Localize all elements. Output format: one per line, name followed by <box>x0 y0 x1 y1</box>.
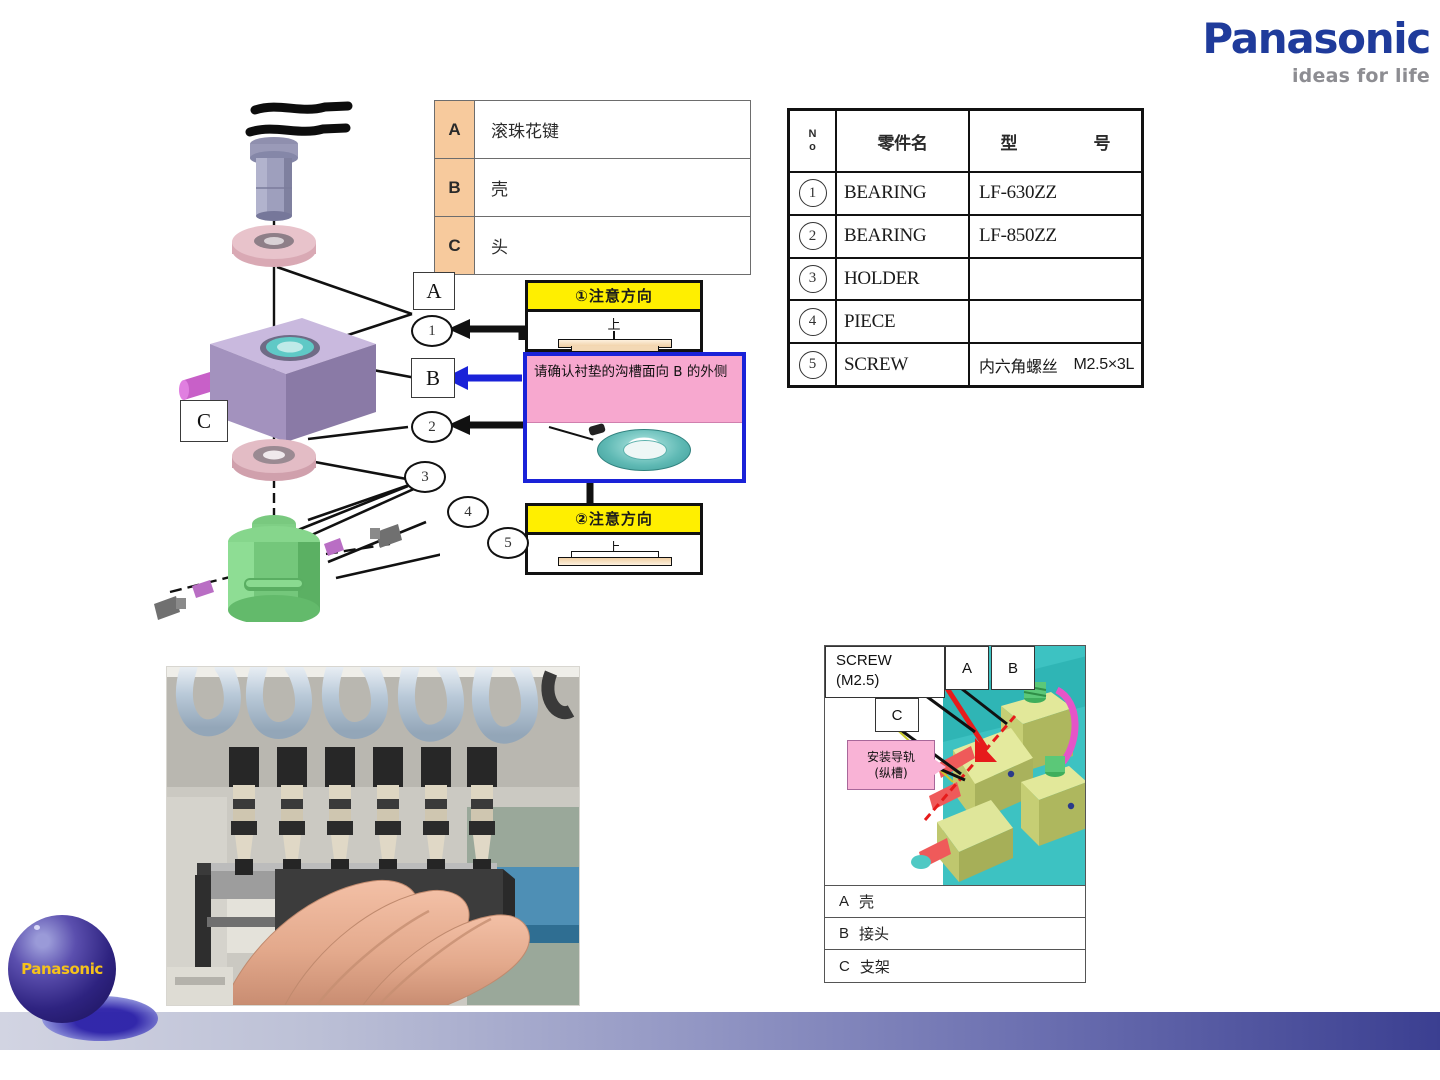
machine-photo <box>167 667 579 1005</box>
legend-row: B 壳 <box>435 159 750 217</box>
label-box-c: C <box>180 400 228 442</box>
label-box-a: A <box>413 272 455 310</box>
balloon-2: 2 <box>411 411 453 443</box>
header-cell-model: 型 号 <box>970 111 1141 171</box>
table-row: 5 SCREW 内六角螺丝 M2.5×3L <box>790 344 1141 385</box>
legend-value: 头 <box>475 217 750 274</box>
screw-callout-line2: (M2.5) <box>836 671 944 691</box>
panasonic-logo: Panasonic ideas for life <box>1165 18 1430 87</box>
row-no-cell: 5 <box>790 344 837 385</box>
table-header-row: N o 零件名 型 号 <box>790 111 1141 173</box>
legend-row: A 滚珠花键 <box>435 101 750 159</box>
row-part-name: BEARING <box>837 216 970 257</box>
panel-legend-row: B 接头 <box>825 918 1085 950</box>
header-no-line2: o <box>809 141 817 154</box>
rail-callout-line2: (纵槽) <box>874 765 907 781</box>
balloon-4: 4 <box>447 496 489 528</box>
circled-number: 3 <box>799 265 827 293</box>
warning-figure <box>527 423 742 479</box>
table-row: 4 PIECE <box>790 301 1141 344</box>
center-axis <box>613 331 615 339</box>
exploded-assembly-illustration <box>140 92 440 622</box>
warning-text: 请确认衬垫的沟槽面向 B 的外侧 <box>527 356 742 423</box>
tag-box-b: B <box>991 646 1035 690</box>
row-model: LF-630ZZ <box>970 173 1141 214</box>
circled-number: 1 <box>799 179 827 207</box>
legend-key: B <box>435 159 475 216</box>
panel-legend-value: 壳 <box>859 891 874 912</box>
caution-title-2: ②注意方向 <box>528 506 700 535</box>
circled-number: 2 <box>799 222 827 250</box>
bearing-body <box>571 551 659 557</box>
balloon-5: 5 <box>487 527 529 559</box>
legend-row: C 头 <box>435 217 750 274</box>
brand-wordmark: Panasonic <box>1165 18 1430 60</box>
cad-vector-art <box>140 92 440 622</box>
legend-value: 壳 <box>475 159 750 216</box>
row-model: LF-850ZZ <box>970 216 1141 257</box>
panel-legend-key: A <box>839 893 849 910</box>
warning-callout: 请确认衬垫的沟槽面向 B 的外侧 <box>523 352 746 483</box>
bearing-flange <box>558 557 672 566</box>
warning-leader-line <box>549 426 594 441</box>
row-part-name: HOLDER <box>837 259 970 300</box>
sphere-logo-text: Panasonic <box>21 960 103 978</box>
table-row: 1 BEARING LF-630ZZ <box>790 173 1141 216</box>
mounting-detail-panel: SCREW (M2.5) A B C 安装导轨 (纵槽) A 壳 B 接头 C … <box>824 645 1086 983</box>
panel-legend-key: C <box>839 958 850 975</box>
legend-value: 滚珠花键 <box>475 101 750 158</box>
panel-legend-table: A 壳 B 接头 C 支架 <box>825 885 1085 982</box>
legend-key: A <box>435 101 475 158</box>
rail-callout-line1: 安装导轨 <box>867 749 915 765</box>
panel-legend-row: C 支架 <box>825 950 1085 982</box>
header-no-line1: N <box>809 128 817 141</box>
brand-tagline: ideas for life <box>1165 65 1430 87</box>
sphere-highlight <box>34 925 40 930</box>
row-model-chinese: 内六角螺丝 <box>979 353 1058 377</box>
header-cell-no: N o <box>790 111 837 171</box>
panasonic-sphere-logo: Panasonic <box>8 915 116 1023</box>
caution-box-1: ①注意方向 上 <box>525 280 703 352</box>
tag-box-a: A <box>945 646 989 690</box>
header-cell-name: 零件名 <box>837 111 970 171</box>
row-no-cell: 3 <box>790 259 837 300</box>
row-model-size: M2.5×3L <box>1074 356 1135 374</box>
row-part-name: PIECE <box>837 301 970 342</box>
row-no-cell: 2 <box>790 216 837 257</box>
screw-callout: SCREW (M2.5) <box>825 646 945 698</box>
rail-callout: 安装导轨 (纵槽) <box>847 740 935 790</box>
panel-legend-key: B <box>839 925 849 942</box>
row-part-name: SCREW <box>837 344 970 385</box>
panel-legend-row: A 壳 <box>825 886 1085 918</box>
legend-key: C <box>435 217 475 274</box>
parts-list-table: N o 零件名 型 号 1 BEARING LF-630ZZ 2 BEARING… <box>787 108 1144 388</box>
circled-number: 5 <box>799 351 827 379</box>
table-row: 3 HOLDER <box>790 259 1141 302</box>
caution-box-2: ②注意方向 上 <box>525 503 703 575</box>
table-row: 2 BEARING LF-850ZZ <box>790 216 1141 259</box>
balloon-3: 3 <box>404 461 446 493</box>
row-model <box>970 301 1141 342</box>
panel-legend-value: 接头 <box>859 923 889 944</box>
circled-number: 4 <box>799 308 827 336</box>
screw-callout-line1: SCREW <box>836 651 944 671</box>
label-box-b: B <box>411 358 455 398</box>
header-no-stack: N o <box>809 128 817 153</box>
panel-legend-value: 支架 <box>860 956 890 977</box>
panel-3d-scene: SCREW (M2.5) A B C 安装导轨 (纵槽) <box>825 646 1085 888</box>
caution-figure-2: 上 <box>528 535 700 581</box>
row-part-name: BEARING <box>837 173 970 214</box>
row-model <box>970 259 1141 300</box>
legend-table-abc: A 滚珠花键 B 壳 C 头 <box>434 100 751 275</box>
row-no-cell: 4 <box>790 301 837 342</box>
tag-box-c: C <box>875 698 919 732</box>
groove-marker <box>588 423 606 436</box>
balloon-1: 1 <box>411 315 453 347</box>
photo-content <box>167 667 579 1005</box>
row-no-cell: 1 <box>790 173 837 214</box>
slide-canvas: Panasonic ideas for life <box>0 0 1440 1080</box>
row-model: 内六角螺丝 M2.5×3L <box>970 344 1141 385</box>
footer-gradient-bar <box>0 1012 1440 1050</box>
washer-inner-bore <box>623 440 667 460</box>
caution-title-1: ①注意方向 <box>528 283 700 312</box>
